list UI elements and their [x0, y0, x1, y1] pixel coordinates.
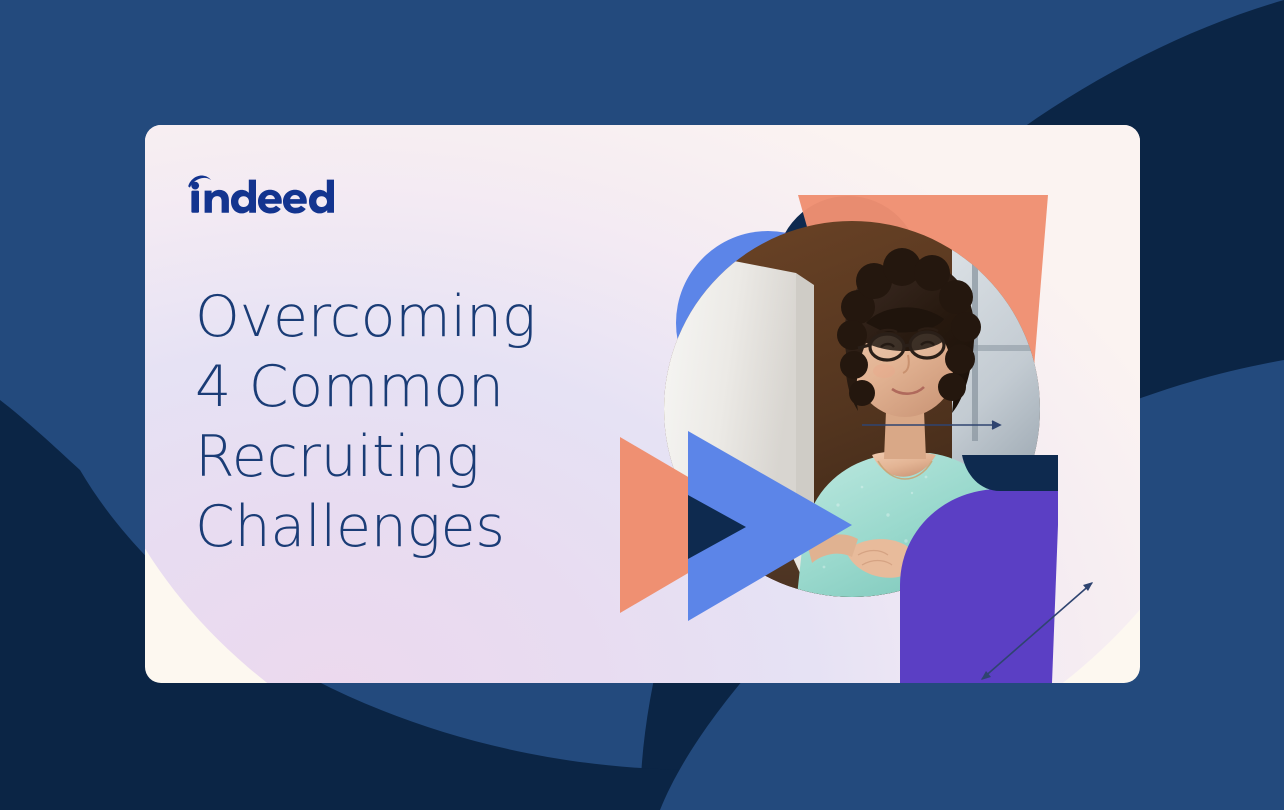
page-title-line-2: 4 Common	[195, 352, 625, 422]
page-title-line-4: Challenges	[195, 492, 625, 562]
content-card: Overcoming 4 Common Recruiting Challenge…	[145, 125, 1140, 683]
indeed-logo	[185, 173, 385, 215]
page-title: Overcoming 4 Common Recruiting Challenge…	[195, 282, 625, 562]
page-title-line-3: Recruiting	[195, 422, 625, 492]
page-title-line-1: Overcoming	[195, 282, 625, 352]
hero-artwork	[600, 155, 1120, 683]
slide-canvas: Overcoming 4 Common Recruiting Challenge…	[0, 0, 1284, 810]
